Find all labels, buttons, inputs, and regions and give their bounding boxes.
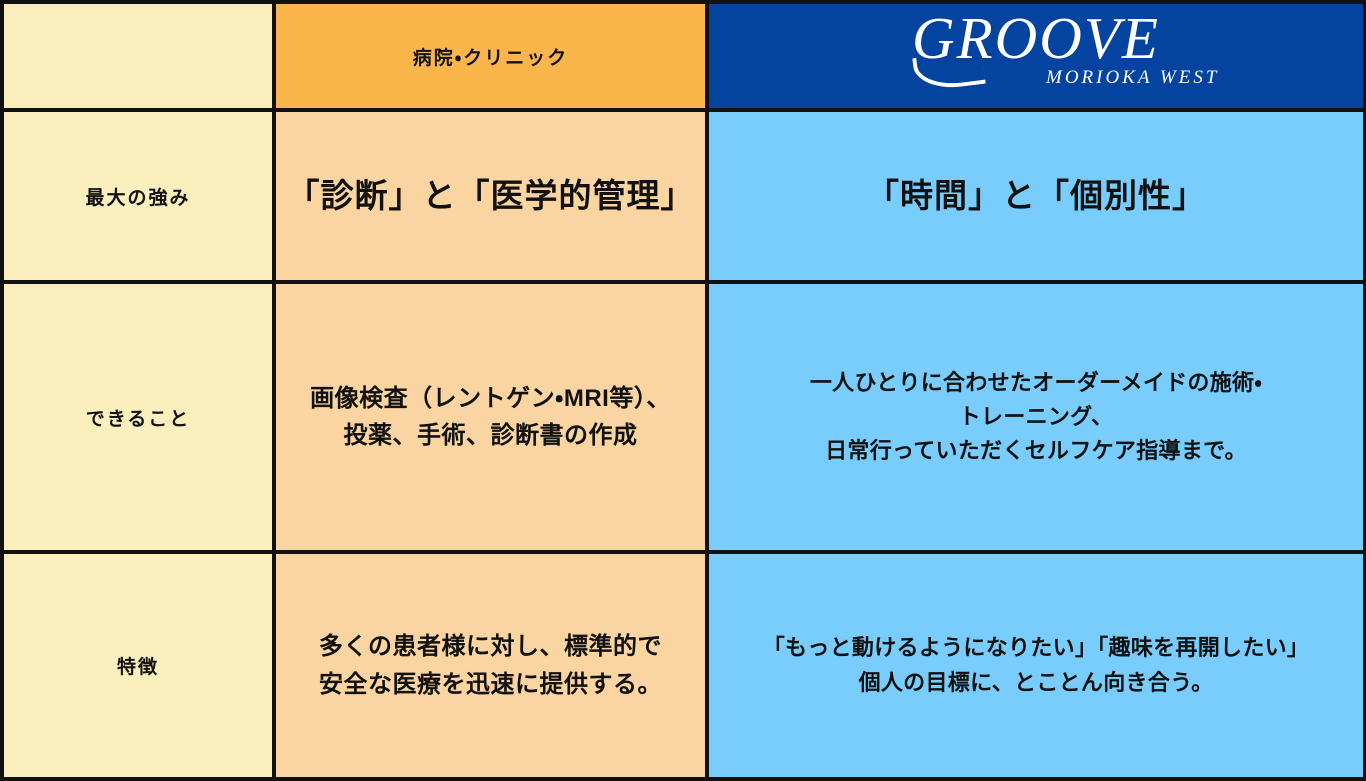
cell-groove-strength: 「時間」と「個別性」	[707, 110, 1365, 282]
cell-text-line: トレーニング、	[719, 400, 1353, 434]
groove-logo-tagline: MORIOKA WEST	[1046, 67, 1219, 89]
cell-text: 「時間」と「個別性」	[866, 177, 1206, 214]
cell-text-line: 多くの患者様に対し、標準的で	[286, 628, 695, 665]
row-label-capabilities: できること	[2, 282, 274, 552]
cell-text: 一人ひとりに合わせたオーダーメイドの施術・ トレーニング、 日常行っていただくセ…	[719, 366, 1353, 468]
cell-text-line: 投薬、手術、診断書の作成	[286, 417, 695, 454]
cell-groove-capabilities: 一人ひとりに合わせたオーダーメイドの施術・ トレーニング、 日常行っていただくセ…	[707, 282, 1365, 552]
table-row: 特徴 多くの患者様に対し、標準的で 安全な医療を迅速に提供する。 「もっと動ける…	[2, 552, 1365, 779]
cell-text: 画像検査（レントゲン・MRI等）、 投薬、手術、診断書の作成	[286, 380, 695, 454]
groove-logo-swash-icon	[912, 50, 986, 92]
table-row: できること 画像検査（レントゲン・MRI等）、 投薬、手術、診断書の作成 一人ひ…	[2, 282, 1365, 552]
table-header-row: 病院・クリニック GROOVE MORIOKA WEST	[2, 2, 1365, 110]
cell-clinic-strength: 「診断」と「医学的管理」	[274, 110, 707, 282]
row-label-strength: 最大の強み	[2, 110, 274, 282]
cell-text: 多くの患者様に対し、標準的で 安全な医療を迅速に提供する。	[286, 628, 695, 702]
cell-clinic-features: 多くの患者様に対し、標準的で 安全な医療を迅速に提供する。	[274, 552, 707, 779]
cell-text-line: 「もっと動けるようになりたい」「趣味を再開したい」	[719, 631, 1353, 665]
table-row: 最大の強み 「診断」と「医学的管理」 「時間」と「個別性」	[2, 110, 1365, 282]
groove-logo-wordmark: GROOVE	[719, 8, 1353, 70]
cell-text: 「診断」と「医学的管理」	[287, 177, 695, 214]
groove-logo-icon: GROOVE MORIOKA WEST	[719, 10, 1353, 102]
comparison-table: 病院・クリニック GROOVE MORIOKA WEST 最大の強み 「診断」と…	[0, 0, 1366, 781]
header-cell-clinic: 病院・クリニック	[274, 2, 707, 110]
cell-text-line: 安全な医療を迅速に提供する。	[286, 666, 695, 703]
cell-text: 「もっと動けるようになりたい」「趣味を再開したい」 個人の目標に、とことん向き合…	[719, 631, 1353, 699]
cell-groove-features: 「もっと動けるようになりたい」「趣味を再開したい」 個人の目標に、とことん向き合…	[707, 552, 1365, 779]
row-label-features: 特徴	[2, 552, 274, 779]
comparison-sheet: 病院・クリニック GROOVE MORIOKA WEST 最大の強み 「診断」と…	[0, 0, 1366, 768]
header-cell-blank	[2, 2, 274, 110]
cell-text-line: 日常行っていただくセルフケア指導まで。	[719, 434, 1353, 468]
header-cell-groove: GROOVE MORIOKA WEST	[707, 2, 1365, 110]
cell-text-line: 個人の目標に、とことん向き合う。	[719, 666, 1353, 700]
cell-clinic-capabilities: 画像検査（レントゲン・MRI等）、 投薬、手術、診断書の作成	[274, 282, 707, 552]
cell-text-line: 画像検査（レントゲン・MRI等）、	[286, 380, 695, 417]
cell-text-line: 一人ひとりに合わせたオーダーメイドの施術・	[719, 366, 1353, 400]
